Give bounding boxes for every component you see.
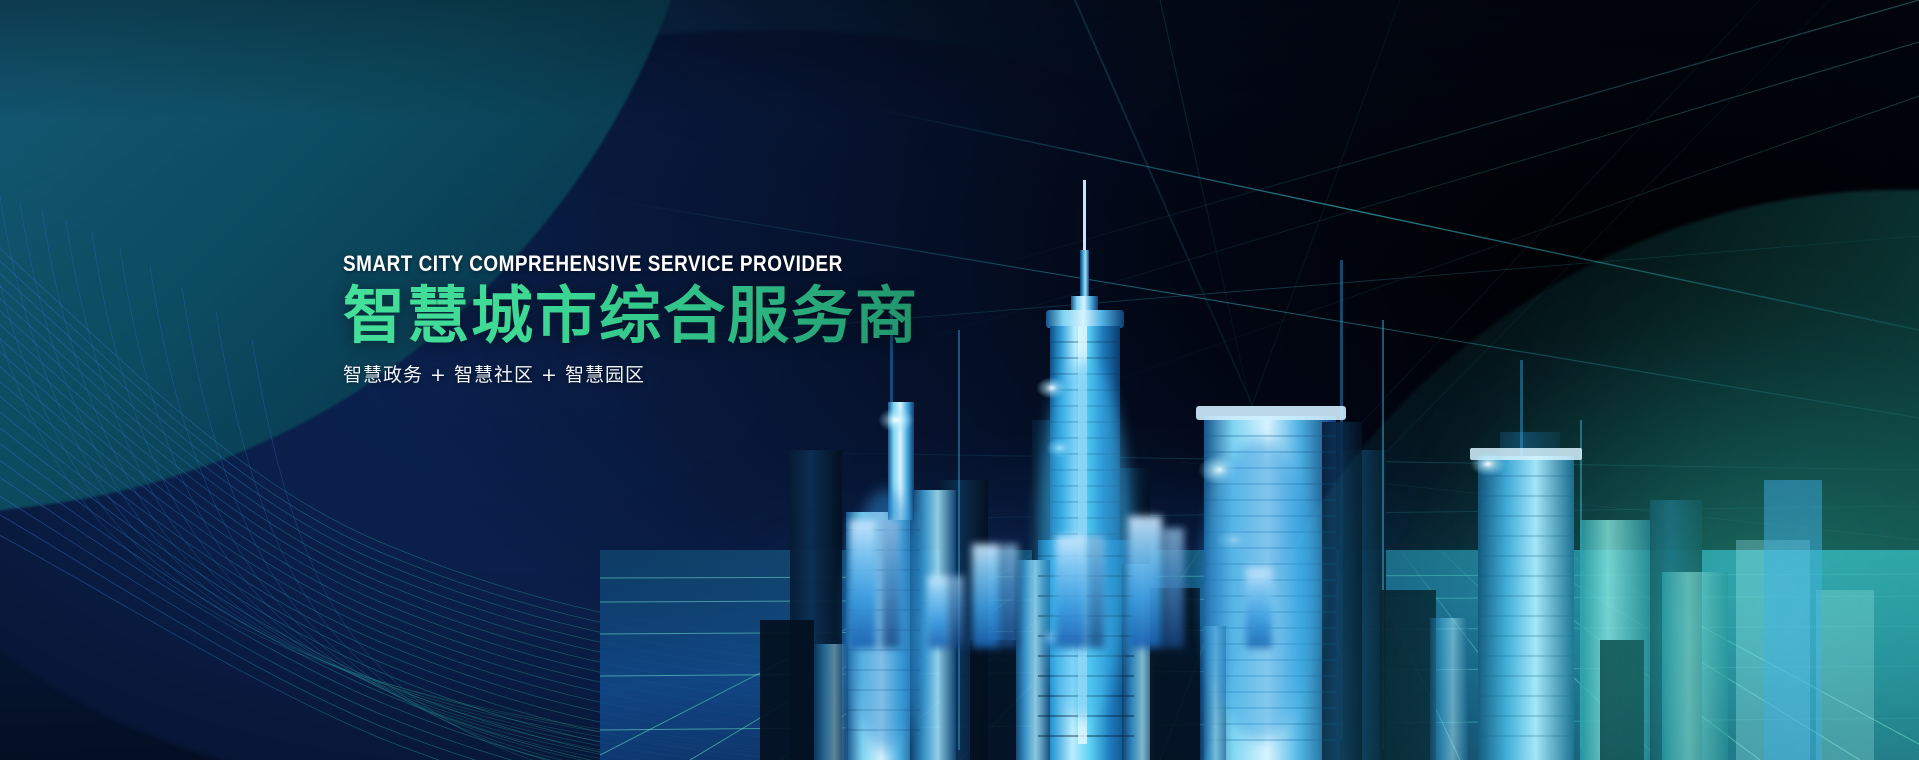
hero-copy: SMART CITY COMPREHENSIVE SERVICE PROVIDE… (343, 252, 1103, 387)
page-title: 智慧城市综合服务商 (343, 282, 1103, 350)
subtitle: 智慧政务 + 智慧社区 + 智慧园区 (343, 360, 1103, 387)
smart-city-hero-banner: SMART CITY COMPREHENSIVE SERVICE PROVIDE… (0, 0, 1919, 760)
eyebrow-tagline: SMART CITY COMPREHENSIVE SERVICE PROVIDE… (343, 252, 997, 276)
